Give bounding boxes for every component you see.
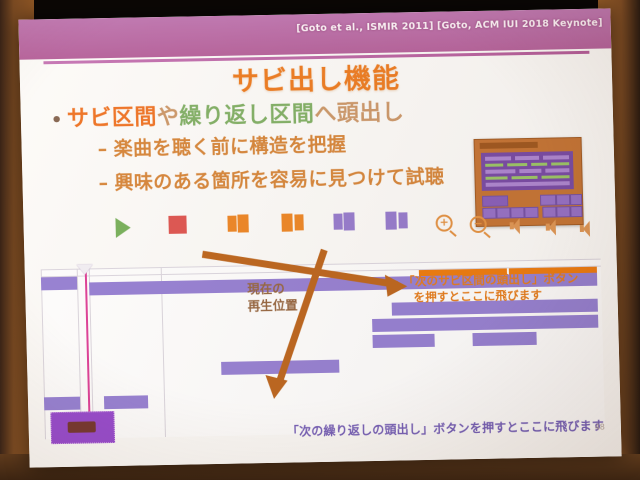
stop-button-icon[interactable] <box>168 216 186 234</box>
repeat-bar <box>104 395 148 409</box>
prev-chorus-button[interactable] <box>227 214 251 232</box>
thumbnail-music-canvas <box>481 151 574 191</box>
repeat-bar <box>372 334 434 348</box>
chorus-note-line2: を押すとここに飛びます <box>413 288 542 305</box>
page-number: 48 <box>595 423 605 432</box>
thumbnail-titlebar <box>480 142 538 149</box>
bullet-dot-icon: • <box>51 110 68 131</box>
play-button-icon[interactable] <box>115 218 131 238</box>
dash-marker-icon: – <box>97 138 114 160</box>
repeat-bar <box>472 332 536 346</box>
repeat-bar <box>41 277 77 291</box>
footer-logo-inner <box>68 421 96 433</box>
playhead-label-line1: 現在の <box>247 281 285 297</box>
repeat-bar <box>372 315 598 332</box>
zoom-out-icon[interactable]: − <box>469 216 486 233</box>
bullet-level2-b-text: 興味のある箇所を容易に見つけて試聴 <box>114 166 444 194</box>
prev-repeat-button[interactable] <box>333 212 357 230</box>
next-repeat-button[interactable] <box>385 211 409 229</box>
bullet-segment-ya: や <box>157 105 180 130</box>
bullet-segment-repeat: 繰り返し区間 <box>179 102 315 130</box>
projection-screen: [Goto et al., ISMIR 2011] [Goto, ACM IUI… <box>18 8 621 467</box>
app-screenshot-thumbnail <box>474 137 584 227</box>
playhead-marker-icon[interactable] <box>77 264 93 274</box>
repeat-bar <box>221 360 339 375</box>
repeat-bar <box>44 397 80 411</box>
bullet-segment-chorus: サビ区間 <box>67 105 158 132</box>
zoom-in-icon[interactable]: + <box>435 214 452 231</box>
footer-logo <box>50 411 115 444</box>
presentation-slide: [Goto et al., ISMIR 2011] [Goto, ACM IUI… <box>18 8 621 467</box>
bullet-level2-a-text: 楽曲を聴く前に構造を把握 <box>113 133 346 159</box>
dash-marker-icon-2: – <box>98 172 115 194</box>
next-chorus-button[interactable] <box>281 213 305 231</box>
bullet-segment-tail: へ頭出し <box>314 100 405 127</box>
playhead-label-line2: 再生位置 <box>248 297 298 313</box>
